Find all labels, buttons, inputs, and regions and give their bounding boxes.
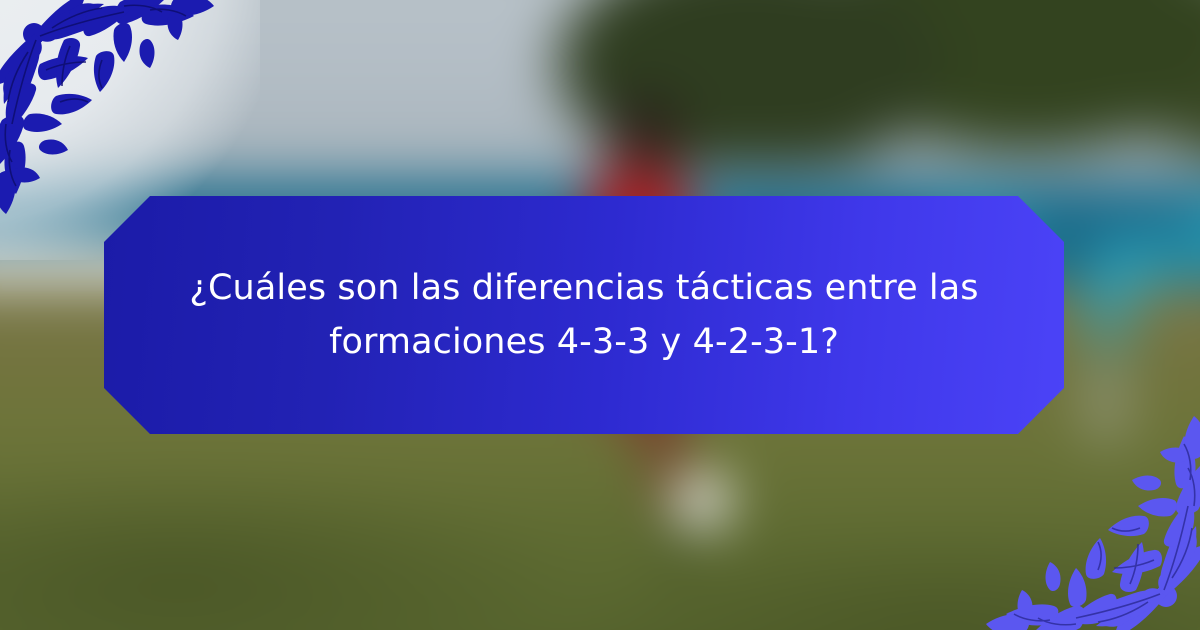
headline-banner: ¿Cuáles son las diferencias tácticas ent… (104, 196, 1064, 434)
headline-text: ¿Cuáles son las diferencias tácticas ent… (124, 261, 1044, 370)
share-card: ¿Cuáles son las diferencias tácticas ent… (0, 0, 1200, 630)
background-player-region (1049, 195, 1168, 450)
soccer-ball-region (673, 473, 731, 531)
